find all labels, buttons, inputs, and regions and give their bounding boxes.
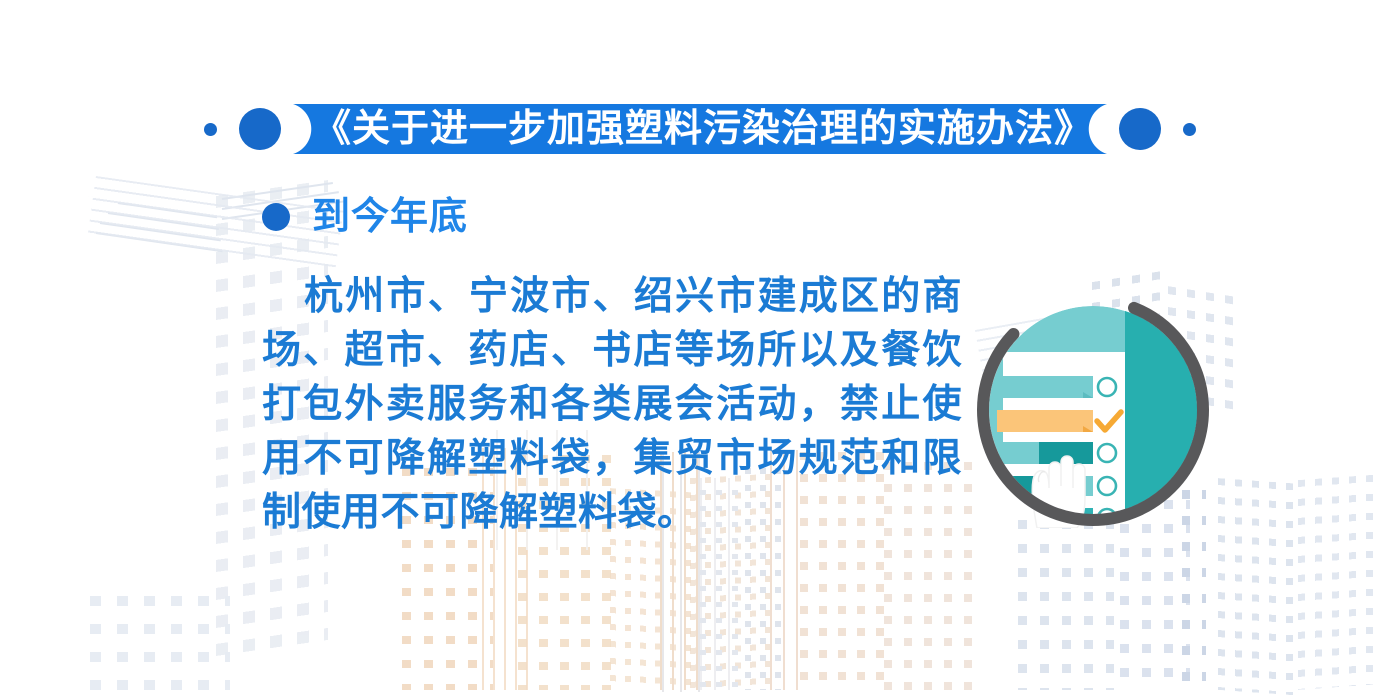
title-banner: 《关于进一步加强塑料污染治理的实施办法》 bbox=[285, 104, 1115, 154]
background-building bbox=[1120, 500, 1190, 690]
background-building bbox=[1018, 520, 1114, 690]
checklist-illustration bbox=[975, 292, 1211, 528]
section-heading: 到今年底 bbox=[262, 198, 468, 236]
small-dot-icon bbox=[204, 123, 217, 136]
window-grid bbox=[88, 196, 216, 684]
background-building bbox=[1298, 474, 1378, 690]
big-dot-icon-left bbox=[239, 108, 281, 150]
bullet-dot-icon bbox=[262, 203, 290, 231]
roofline bbox=[108, 212, 219, 230]
checklist-bar-1 bbox=[1003, 376, 1093, 398]
title-banner-row: 《关于进一步加强塑料污染治理的实施办法》 bbox=[0, 98, 1400, 160]
small-dot-icon bbox=[1183, 123, 1196, 136]
background-building bbox=[90, 596, 230, 692]
background-building-left-face bbox=[88, 196, 216, 684]
roofline bbox=[96, 232, 223, 252]
page-title: 《关于进一步加强塑料污染治理的实施办法》 bbox=[291, 110, 1109, 148]
big-dot-icon-right bbox=[1119, 108, 1161, 150]
section-heading-label: 到今年底 bbox=[312, 198, 468, 236]
poster-root: 《关于进一步加强塑料污染治理的实施办法》 到今年底 杭州市、宁波市、绍兴市建成区… bbox=[0, 0, 1400, 700]
section-body-text: 杭州市、宁波市、绍兴市建成区的商场、超市、药店、书店等场所以及餐饮打包外卖服务和… bbox=[262, 270, 962, 540]
checklist-bar-2 bbox=[997, 410, 1093, 432]
roofline bbox=[100, 222, 221, 241]
background-building bbox=[1218, 478, 1300, 696]
roofline bbox=[118, 202, 217, 218]
